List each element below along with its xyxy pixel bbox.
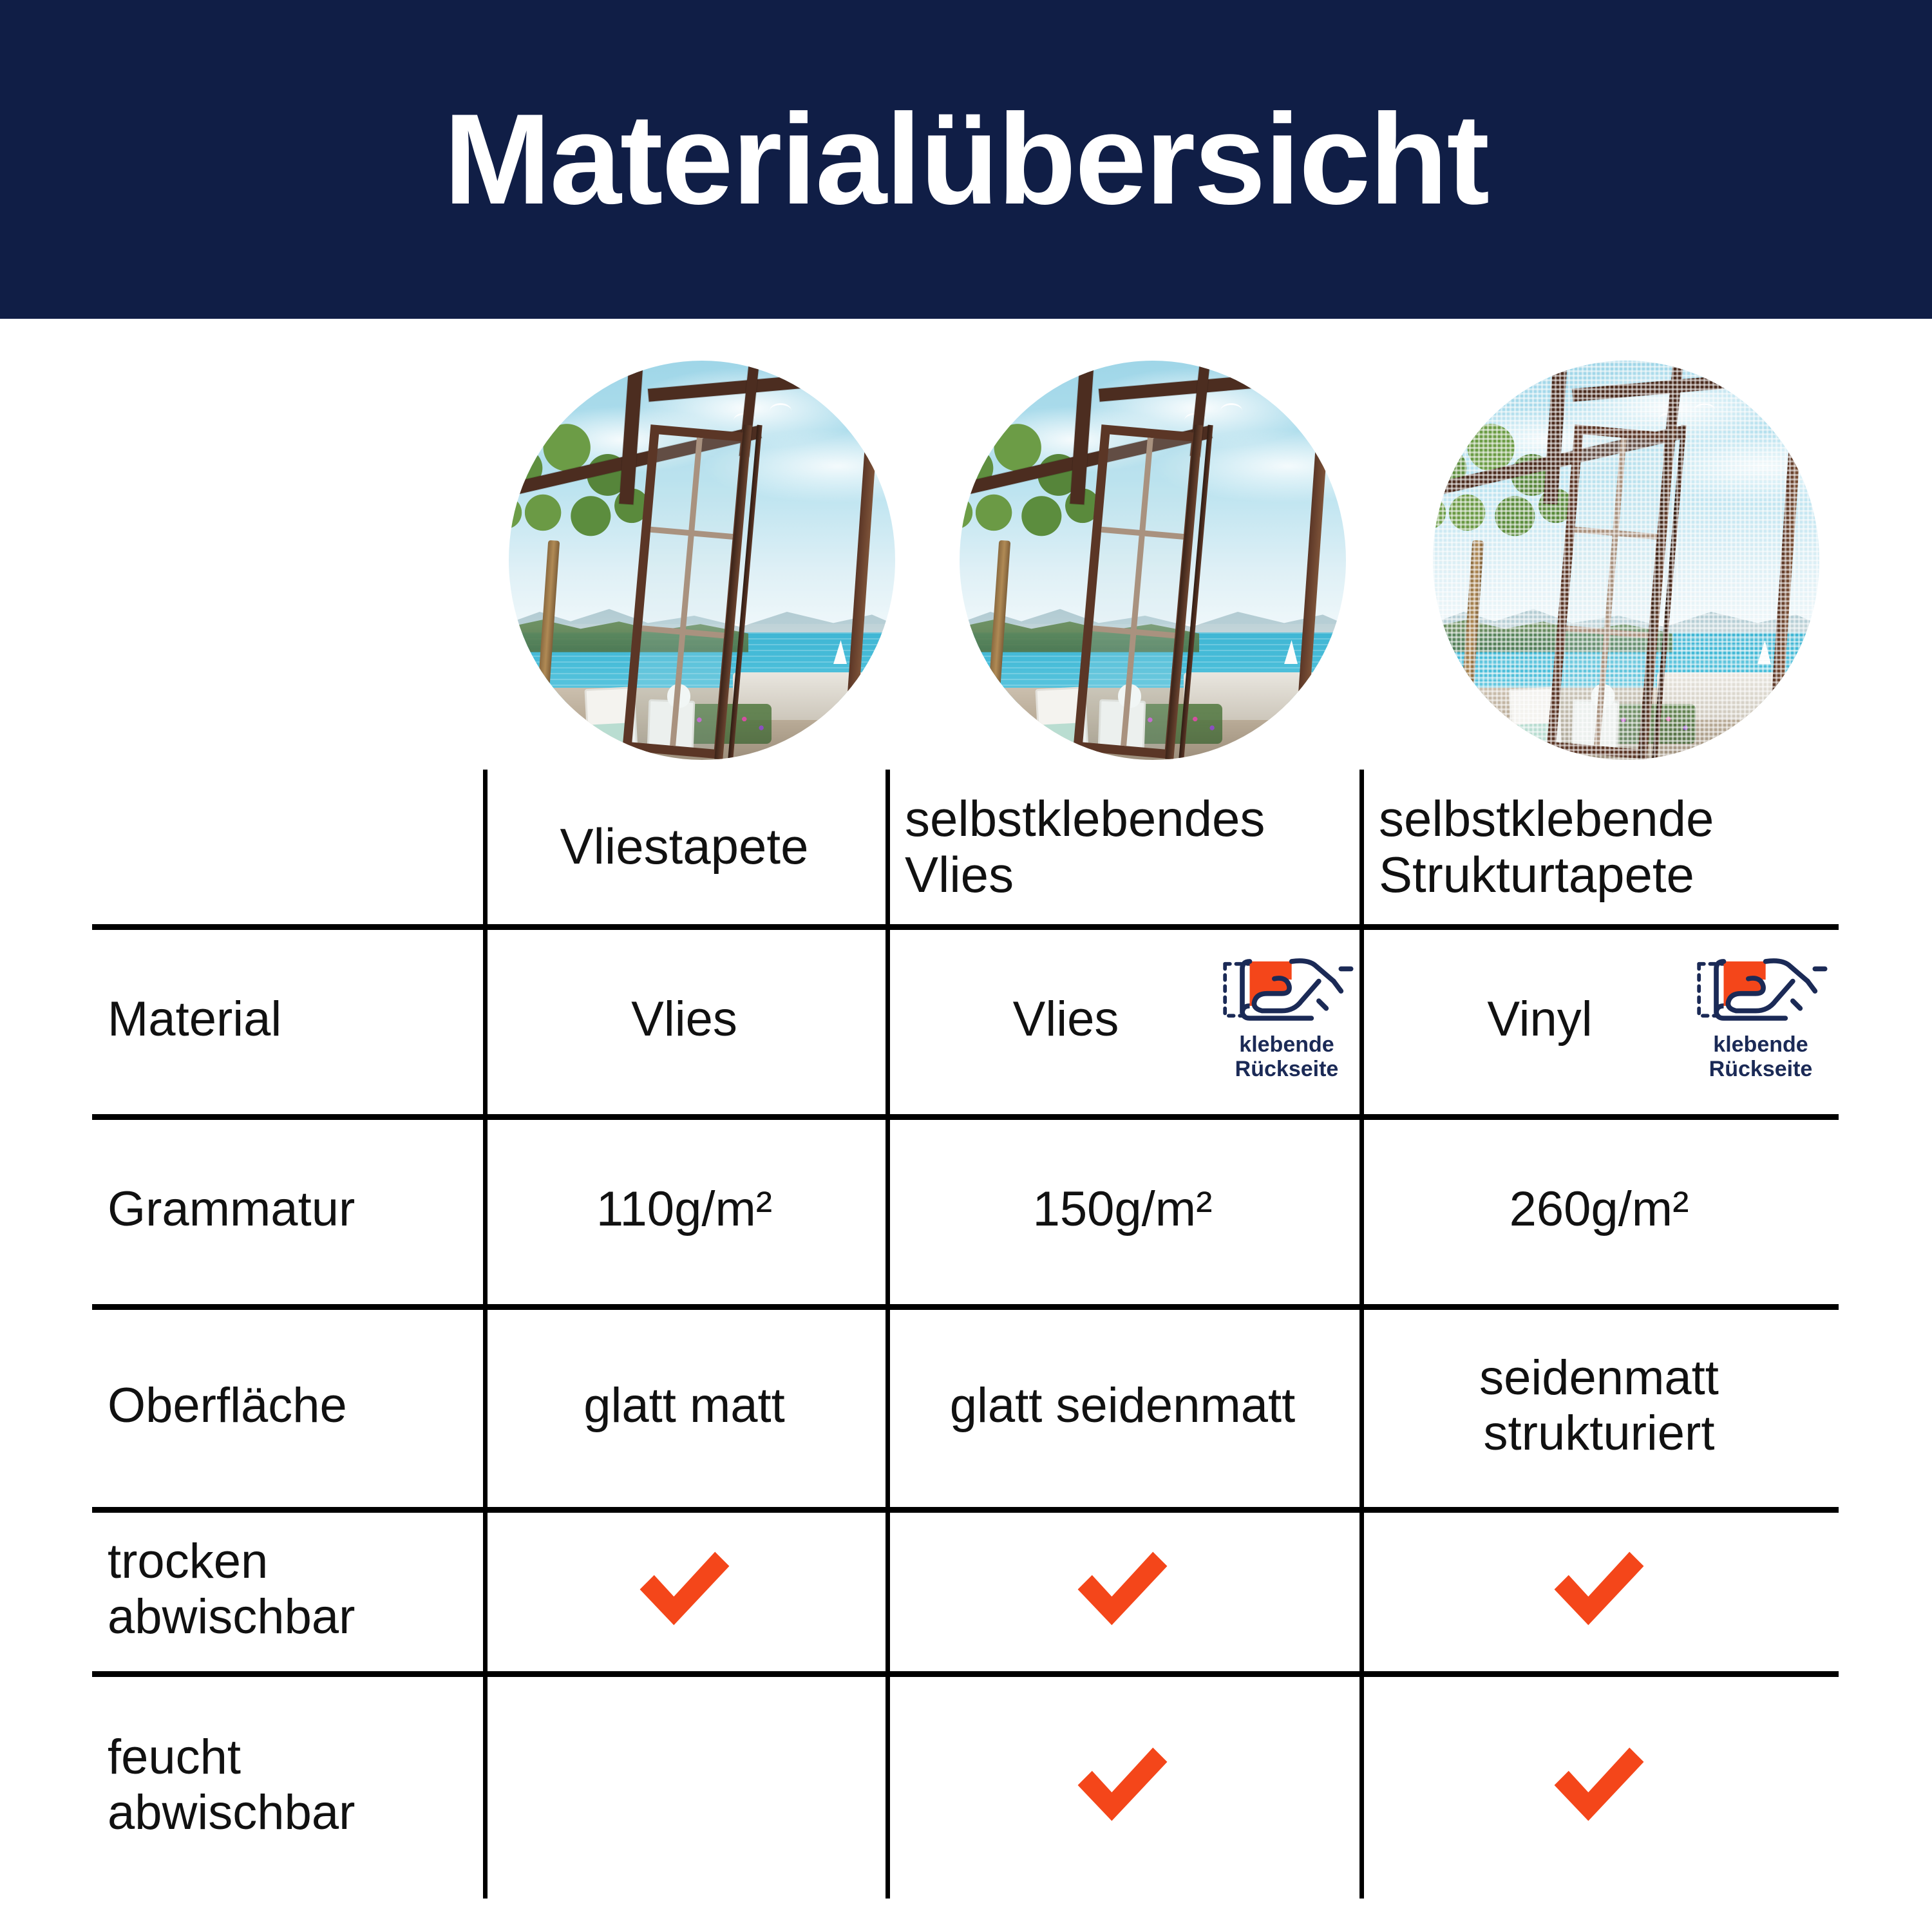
cell-feucht-vliestapete bbox=[483, 1671, 885, 1899]
check-icon bbox=[630, 1541, 739, 1638]
row-label-material: Material bbox=[92, 924, 483, 1114]
badge-line-1: klebende bbox=[1687, 1032, 1835, 1057]
structure-texture-overlay bbox=[1433, 361, 1819, 760]
peel-sticker-hand-icon bbox=[1213, 951, 1361, 1028]
cell-oberflaeche-vliestapete: glatt matt bbox=[483, 1304, 885, 1507]
check-icon bbox=[1544, 1541, 1654, 1638]
page-title: Materialübersicht bbox=[444, 95, 1488, 224]
column-header-selbstklebendes-vlies: selbstklebendes Vlies bbox=[905, 770, 1356, 924]
cell-material-selbstklebende-strukturtapete: Vinyl bbox=[1359, 924, 1720, 1114]
column-header-vliestapete: Vliestapete bbox=[483, 770, 885, 924]
window-scene bbox=[1433, 361, 1819, 760]
row-label-trocken-abwischbar: trocken abwischbar bbox=[92, 1507, 483, 1671]
thumbnail-vliestapete bbox=[509, 361, 895, 760]
cell-grammatur-vliestapete: 110g/m² bbox=[483, 1114, 885, 1304]
cell-grammatur-selbstklebende-strukturtapete: 260g/m² bbox=[1359, 1114, 1839, 1304]
sticky-back-badge-column2: klebende Rückseite bbox=[1213, 951, 1361, 1081]
material-comparison-table: Vliestapete selbstklebendes Vlies selbst… bbox=[92, 770, 1839, 1900]
cell-grammatur-selbstklebendes-vlies: 150g/m² bbox=[885, 1114, 1359, 1304]
cell-trocken-selbstklebendes-vlies bbox=[885, 1507, 1359, 1671]
cell-trocken-selbstklebende-strukturtapete bbox=[1359, 1507, 1839, 1671]
badge-line-1: klebende bbox=[1213, 1032, 1361, 1057]
badge-line-2: Rückseite bbox=[1213, 1057, 1361, 1081]
row-label-oberflaeche: Oberfläche bbox=[92, 1304, 483, 1507]
cell-feucht-selbstklebende-strukturtapete bbox=[1359, 1671, 1839, 1899]
material-overview-infographic: Materialübersicht bbox=[0, 0, 1932, 1932]
cell-material-vliestapete: Vlies bbox=[483, 924, 885, 1114]
cell-oberflaeche-selbstklebende-strukturtapete: seidenmatt strukturiert bbox=[1359, 1304, 1839, 1507]
cell-material-selbstklebendes-vlies: Vlies bbox=[885, 924, 1246, 1114]
header-banner: Materialübersicht bbox=[0, 0, 1932, 319]
check-icon bbox=[1544, 1737, 1654, 1833]
thumbnail-row bbox=[0, 361, 1932, 766]
row-label-feucht-abwischbar: feucht abwischbar bbox=[92, 1671, 483, 1899]
check-icon bbox=[1068, 1737, 1177, 1833]
column-header-selbstklebende-strukturtapete: selbstklebende Strukturtapete bbox=[1379, 770, 1839, 924]
sticky-back-badge-column3: klebende Rückseite bbox=[1687, 951, 1835, 1081]
peel-sticker-hand-icon bbox=[1687, 951, 1835, 1028]
thumbnail-selbstklebende-strukturtapete bbox=[1433, 361, 1819, 760]
row-label-grammatur: Grammatur bbox=[92, 1114, 483, 1304]
thumbnail-selbstklebendes-vlies bbox=[960, 361, 1346, 760]
window-scene bbox=[509, 361, 895, 760]
window-scene bbox=[960, 361, 1346, 760]
cell-oberflaeche-selbstklebendes-vlies: glatt seidenmatt bbox=[885, 1304, 1359, 1507]
cell-feucht-selbstklebendes-vlies bbox=[885, 1671, 1359, 1899]
window-frame bbox=[509, 361, 895, 760]
cell-trocken-vliestapete bbox=[483, 1507, 885, 1671]
badge-line-2: Rückseite bbox=[1687, 1057, 1835, 1081]
check-icon bbox=[1068, 1541, 1177, 1638]
